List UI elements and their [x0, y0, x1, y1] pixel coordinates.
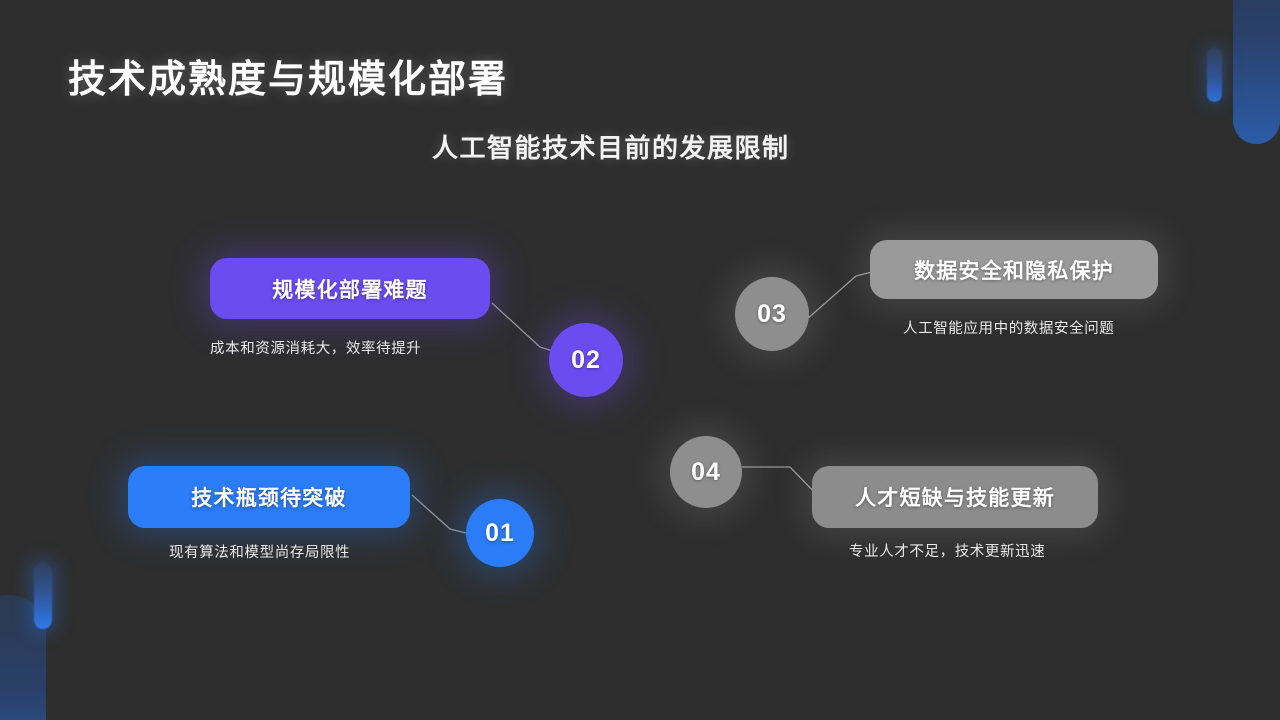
item-caption-01: 现有算法和模型尚存局限性 — [169, 541, 350, 562]
item-caption-02: 成本和资源消耗大，效率待提升 — [210, 337, 421, 358]
item-number-circle-03[interactable]: 03 — [735, 277, 809, 351]
item-caption-03: 人工智能应用中的数据安全问题 — [903, 317, 1114, 338]
item-heading-pill-04[interactable]: 人才短缺与技能更新 — [812, 466, 1098, 528]
item-number-circle-01[interactable]: 01 — [466, 499, 534, 567]
item-caption-04: 专业人才不足，技术更新迅速 — [849, 540, 1045, 561]
item-number-circle-02[interactable]: 02 — [549, 323, 623, 397]
item-heading-pill-02[interactable]: 规模化部署难题 — [210, 258, 490, 319]
item-heading-pill-01[interactable]: 技术瓶颈待突破 — [128, 466, 410, 528]
item-heading-pill-03[interactable]: 数据安全和隐私保护 — [870, 240, 1158, 299]
slide-canvas: 技术成熟度与规模化部署 人工智能技术目前的发展限制 技术瓶颈待突破 现有算法和模… — [0, 0, 1280, 720]
connector-lines — [0, 0, 1280, 720]
item-number-circle-04[interactable]: 04 — [670, 436, 742, 508]
